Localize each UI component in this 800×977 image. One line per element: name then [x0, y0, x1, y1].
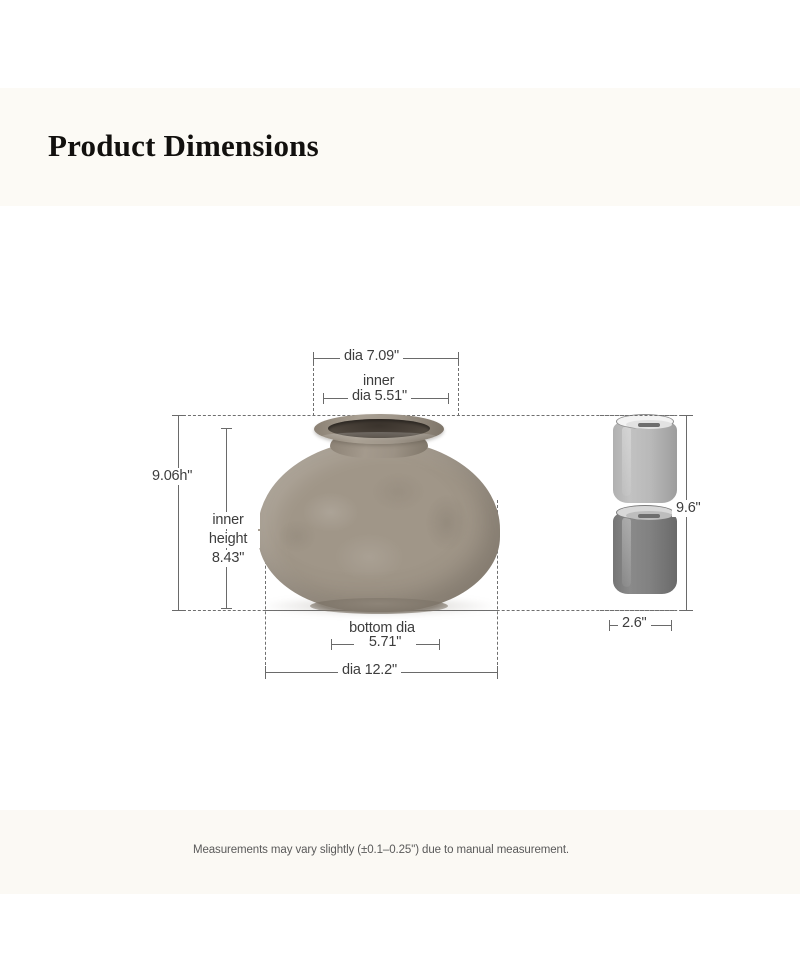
tick-can-width-left	[609, 620, 610, 631]
vase-foot	[310, 598, 448, 614]
label-outer-top-dia: dia 7.09"	[340, 348, 403, 365]
guide-can-bottom	[600, 610, 692, 611]
tick-inner-height-top	[221, 428, 232, 429]
soda-can-upper-sheen	[622, 426, 631, 496]
soda-can-scale-reference	[608, 412, 682, 612]
label-inner-height-line3: 8.43"	[196, 550, 260, 567]
label-inner-height-line2: height	[196, 531, 260, 548]
tick-outer-dia-left	[313, 352, 314, 365]
tick-can-width-right	[671, 620, 672, 631]
guide-can-top	[600, 415, 692, 416]
label-bottom-dia-line2: 5.71"	[354, 634, 416, 651]
label-overall-height: 9.06h"	[148, 468, 196, 485]
measure-line-overall-height	[178, 415, 179, 611]
label-can-height: 9.6"	[672, 500, 705, 517]
tick-overall-height-top	[172, 415, 185, 416]
tick-outer-dia-right	[458, 352, 459, 365]
tick-inner-height-bottom	[221, 608, 232, 609]
tick-inner-dia-right	[448, 393, 449, 404]
vase-body	[258, 440, 500, 612]
label-widest-dia: dia 12.2"	[338, 662, 401, 679]
measurement-disclaimer: Measurements may vary slightly (±0.1–0.2…	[0, 844, 800, 856]
tick-can-height-bottom	[680, 610, 693, 611]
soda-can-lower-lid	[616, 505, 674, 520]
soda-can-upper-pull-tab	[638, 423, 660, 427]
dimensions-diagram: dia 7.09" inner dia 5.51" 9.06h" inner h…	[0, 0, 800, 977]
tick-bottom-dia-right	[439, 639, 440, 650]
soda-can-lower-pull-tab	[638, 514, 660, 518]
vase-rim-highlight	[322, 432, 436, 441]
guide-rim-outer-left	[313, 358, 314, 416]
label-inner-height-line1: inner	[196, 512, 260, 529]
label-inner-top-dia-line2: dia 5.51"	[348, 388, 411, 405]
tick-widest-dia-left	[265, 666, 266, 679]
soda-can-upper-lid	[616, 414, 674, 429]
soda-can-lower-sheen	[622, 517, 631, 587]
label-can-width: 2.6"	[618, 615, 651, 632]
tick-overall-height-bottom	[172, 610, 185, 611]
tick-widest-dia-right	[497, 666, 498, 679]
vase-illustration	[258, 414, 500, 612]
tick-bottom-dia-left	[331, 639, 332, 650]
tick-can-height-top	[680, 415, 693, 416]
guide-rim-outer-right	[458, 358, 459, 416]
tick-inner-dia-left	[323, 393, 324, 404]
